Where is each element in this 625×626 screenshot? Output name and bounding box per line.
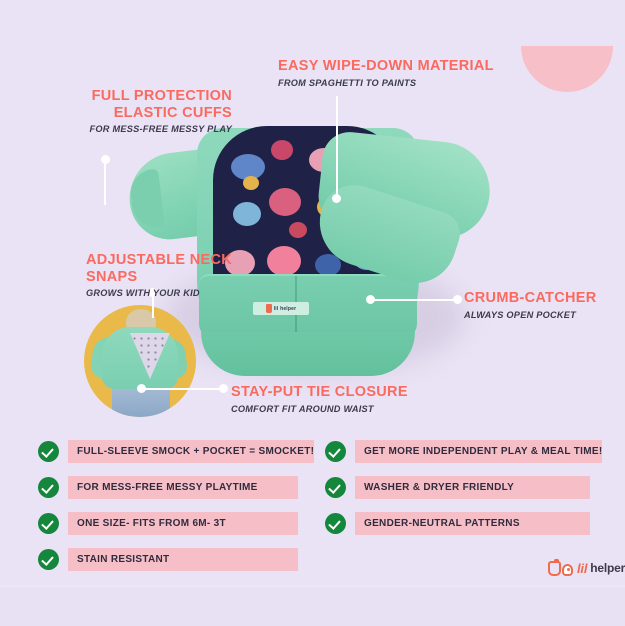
leader-line-wipe-down (336, 96, 338, 198)
check-icon (38, 477, 59, 498)
benefit-bar: FOR MESS-FREE MESSY PLAYTIME (68, 476, 298, 499)
benefit-item: FOR MESS-FREE MESSY PLAYTIME (38, 476, 298, 499)
benefit-bar: ONE SIZE- FITS FROM 6M- 3T (68, 512, 298, 535)
callout-subtitle: GROWS WITH YOUR KID (86, 287, 236, 299)
benefit-label: STAIN RESISTANT (68, 554, 169, 565)
benefits-right-column: GET MORE INDEPENDENT PLAY & MEAL TIME! W… (325, 440, 590, 548)
benefit-label: GENDER-NEUTRAL PATTERNS (355, 518, 520, 529)
product-hem (201, 332, 415, 376)
tag-label: lil helper (274, 306, 297, 312)
product-brand-tag: lil helper (253, 302, 309, 315)
check-icon (325, 513, 346, 534)
brand-name-primary: lil (577, 561, 587, 576)
infographic-canvas: lil helper EASY WIPE-DOWN MATERIAL FROM … (0, 0, 625, 625)
callout-title: CRUMB-CATCHER (464, 290, 624, 307)
benefit-bar: STAIN RESISTANT (68, 548, 298, 571)
callout-subtitle: ALWAYS OPEN POCKET (464, 309, 624, 321)
leader-line-tie (142, 388, 220, 390)
callout-crumb-catcher: CRUMB-CATCHER ALWAYS OPEN POCKET (464, 290, 624, 321)
benefit-bar: GET MORE INDEPENDENT PLAY & MEAL TIME! (355, 440, 602, 463)
benefit-item: WASHER & DRYER FRIENDLY (325, 476, 590, 499)
check-icon (38, 441, 59, 462)
benefit-item: ONE SIZE- FITS FROM 6M- 3T (38, 512, 298, 535)
leader-line-crumb (371, 299, 455, 301)
tag-logo-icon (266, 304, 272, 313)
benefit-bar: FULL-SLEEVE SMOCK + POCKET = SMOCKET! (68, 440, 314, 463)
callout-title: STAY-PUT TIE CLOSURE (231, 384, 431, 401)
callout-title: FULL PROTECTION ELASTIC CUFFS (56, 88, 232, 121)
benefit-item: GENDER-NEUTRAL PATTERNS (325, 512, 590, 535)
leader-dot-wipe-down (332, 194, 341, 203)
benefits-left-column: FULL-SLEEVE SMOCK + POCKET = SMOCKET! FO… (38, 440, 298, 584)
check-icon (38, 549, 59, 570)
leader-dot-tie-end (219, 384, 228, 393)
benefit-label: ONE SIZE- FITS FROM 6M- 3T (68, 518, 226, 529)
callout-full-protection-elastic-cuffs: FULL PROTECTION ELASTIC CUFFS FOR MESS-F… (56, 88, 232, 135)
callout-adjustable-neck-snaps: ADJUSTABLE NECK SNAPS GROWS WITH YOUR KI… (86, 252, 236, 299)
decorative-half-circle (521, 46, 613, 92)
benefits-section: FULL-SLEEVE SMOCK + POCKET = SMOCKET! FO… (0, 440, 625, 570)
callout-subtitle: FOR MESS-FREE MESSY PLAY (56, 123, 232, 135)
check-icon (325, 477, 346, 498)
brand-name-secondary: helper (590, 561, 625, 575)
callout-stay-put-tie-closure: STAY-PUT TIE CLOSURE COMFORT FIT AROUND … (231, 384, 431, 415)
benefit-label: GET MORE INDEPENDENT PLAY & MEAL TIME! (355, 446, 602, 457)
benefit-bar: GENDER-NEUTRAL PATTERNS (355, 512, 590, 535)
benefit-item: GET MORE INDEPENDENT PLAY & MEAL TIME! (325, 440, 590, 463)
check-icon (38, 513, 59, 534)
lil-helper-bottle-icon (548, 559, 574, 577)
callout-title: ADJUSTABLE NECK SNAPS (86, 252, 236, 285)
callout-title: EASY WIPE-DOWN MATERIAL (278, 58, 508, 75)
benefit-label: FOR MESS-FREE MESSY PLAYTIME (68, 482, 258, 493)
leader-dot-crumb-end (453, 295, 462, 304)
benefit-item: FULL-SLEEVE SMOCK + POCKET = SMOCKET! (38, 440, 298, 463)
benefit-item: STAIN RESISTANT (38, 548, 298, 571)
callout-easy-wipe-down-material: EASY WIPE-DOWN MATERIAL FROM SPAGHETTI T… (278, 58, 508, 89)
benefit-label: FULL-SLEEVE SMOCK + POCKET = SMOCKET! (68, 446, 314, 457)
brand-logo: lil helper (548, 558, 625, 578)
callout-subtitle: FROM SPAGHETTI TO PAINTS (278, 77, 508, 89)
leader-line-cuffs (104, 159, 106, 205)
benefit-label: WASHER & DRYER FRIENDLY (355, 482, 514, 493)
back-view-inset-photo (84, 305, 196, 417)
callout-subtitle: COMFORT FIT AROUND WAIST (231, 403, 431, 415)
bottom-band (0, 586, 625, 626)
check-icon (325, 441, 346, 462)
benefit-bar: WASHER & DRYER FRIENDLY (355, 476, 590, 499)
